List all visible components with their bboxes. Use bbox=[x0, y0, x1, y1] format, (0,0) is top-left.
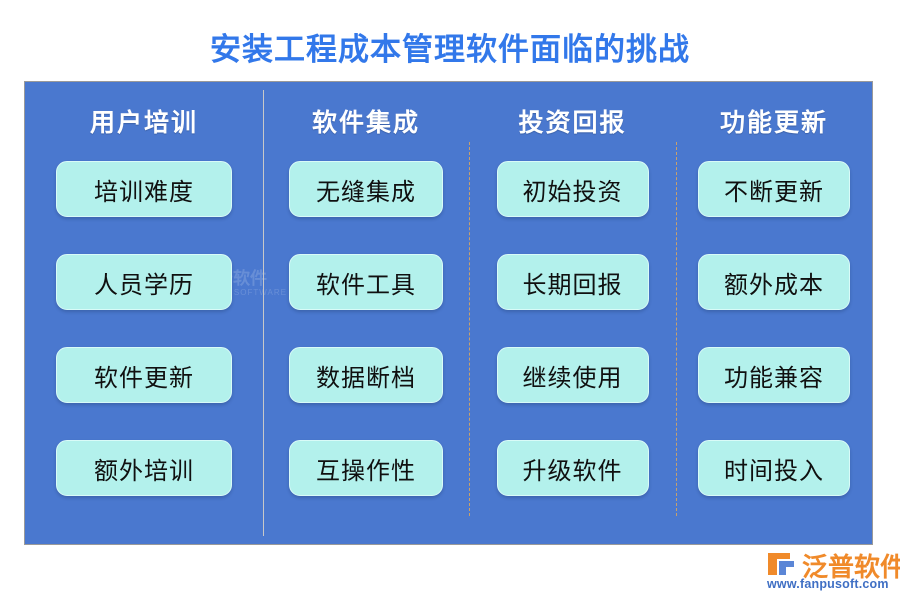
column-user-training: 用户培训 培训难度 人员学历 软件更新 额外培训 bbox=[25, 82, 263, 544]
card-3-1[interactable]: 初始投资 bbox=[497, 161, 649, 217]
card-3-2[interactable]: 长期回报 bbox=[497, 254, 649, 310]
card-1-3[interactable]: 软件更新 bbox=[56, 347, 232, 403]
card-4-2[interactable]: 额外成本 bbox=[698, 254, 850, 310]
card-4-4[interactable]: 时间投入 bbox=[698, 440, 850, 496]
column-header-4: 功能更新 bbox=[720, 103, 828, 139]
brand-logo: 泛普软件 www.fanpusoft.com bbox=[766, 547, 896, 592]
card-4-3[interactable]: 功能兼容 bbox=[698, 347, 850, 403]
card-1-1[interactable]: 培训难度 bbox=[56, 161, 232, 217]
column-feature-update: 功能更新 不断更新 额外成本 功能兼容 时间投入 bbox=[676, 82, 872, 544]
card-2-3[interactable]: 数据断档 bbox=[289, 347, 443, 403]
poster-canvas: 安装工程成本管理软件面临的挑战 泛普软件 FANPU SOFTWARE 用户培训… bbox=[0, 0, 900, 600]
column-software-integration: 软件集成 无缝集成 软件工具 数据断档 互操作性 bbox=[263, 82, 469, 544]
column-header-2: 软件集成 bbox=[312, 103, 420, 139]
card-4-1[interactable]: 不断更新 bbox=[698, 161, 850, 217]
card-2-2[interactable]: 软件工具 bbox=[289, 254, 443, 310]
column-header-1: 用户培训 bbox=[90, 103, 198, 139]
card-2-1[interactable]: 无缝集成 bbox=[289, 161, 443, 217]
challenges-panel: 泛普软件 FANPU SOFTWARE 用户培训 培训难度 人员学历 软件更新 … bbox=[24, 81, 873, 545]
divider-2 bbox=[469, 142, 470, 516]
divider-3 bbox=[676, 142, 677, 516]
card-3-3[interactable]: 继续使用 bbox=[497, 347, 649, 403]
column-header-3: 投资回报 bbox=[518, 103, 626, 139]
column-investment-return: 投资回报 初始投资 长期回报 继续使用 升级软件 bbox=[469, 82, 676, 544]
card-2-4[interactable]: 互操作性 bbox=[289, 440, 443, 496]
fanpu-logo-icon bbox=[766, 550, 798, 578]
columns-container: 用户培训 培训难度 人员学历 软件更新 额外培训 软件集成 无缝集成 软件工具 … bbox=[25, 82, 872, 544]
card-3-4[interactable]: 升级软件 bbox=[497, 440, 649, 496]
brand-url: www.fanpusoft.com bbox=[767, 577, 889, 591]
card-1-4[interactable]: 额外培训 bbox=[56, 440, 232, 496]
page-title: 安装工程成本管理软件面临的挑战 bbox=[0, 24, 900, 69]
divider-1 bbox=[263, 90, 264, 536]
card-1-2[interactable]: 人员学历 bbox=[56, 254, 232, 310]
